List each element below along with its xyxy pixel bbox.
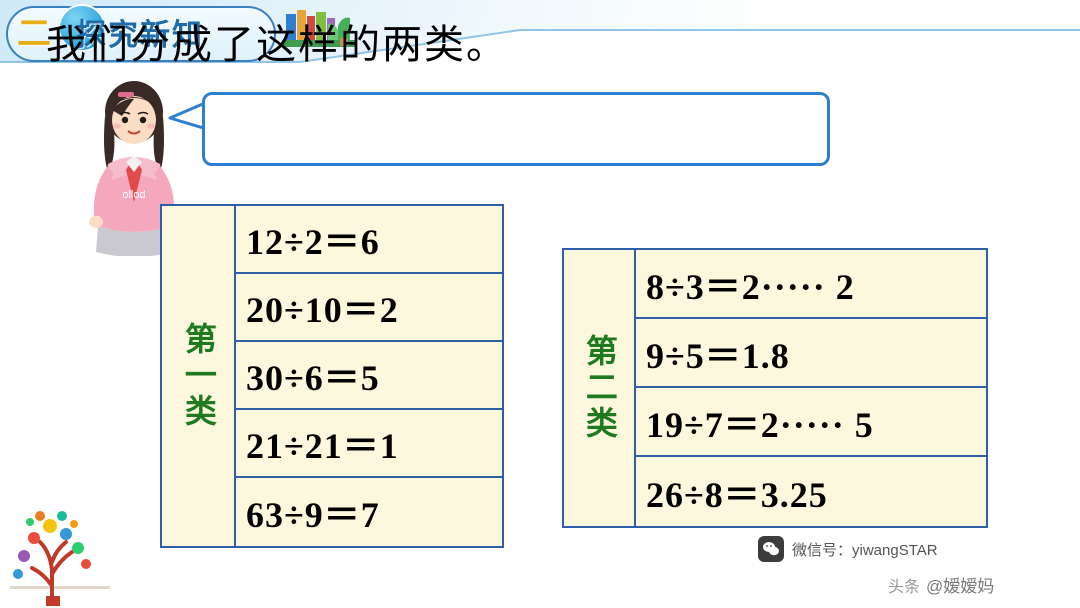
table-row: 19÷7＝2····· 5 [636,388,986,457]
equation-text: 30÷6＝5 [236,349,380,401]
equation-text: 21÷21＝1 [236,417,399,469]
wechat-icon [758,536,784,562]
table-row: 26÷8＝3.25 [636,457,986,526]
group-two-label-cell: 第二类 [562,248,636,528]
wechat-text: 微信号：yiwangSTAR [792,539,938,560]
toutiao-watermark: 头条 @嫒嫒妈 [888,572,994,597]
equation-text: 9÷5＝1.8 [636,327,790,379]
tree-icon [0,500,130,608]
equation-text: 12÷2＝6 [236,213,380,265]
table-row: 9÷5＝1.8 [636,319,986,388]
group-one-table: 第一类 12÷2＝6 20÷10＝2 30÷6＝5 21÷21＝1 63÷9＝7 [160,204,504,548]
table-row: 21÷21＝1 [236,410,502,478]
speech-bubble [202,92,830,166]
table-row: 30÷6＝5 [236,342,502,410]
group-one-label: 第一类 [179,322,217,430]
equation-text: 63÷9＝7 [236,486,380,538]
table-row: 12÷2＝6 [236,206,502,274]
table-row: 8÷3＝2····· 2 [636,250,986,319]
group-two-label: 第二类 [580,334,618,442]
group-two-rows: 8÷3＝2····· 2 9÷5＝1.8 19÷7＝2····· 5 26÷8＝… [636,248,988,528]
equation-text: 20÷10＝2 [236,281,399,333]
speech-text: 我们分成了这样的两类。 [46,12,508,70]
toutiao-label: 头条 [888,573,920,597]
toutiao-user: @嫒嫒妈 [926,572,994,597]
group-one-rows: 12÷2＝6 20÷10＝2 30÷6＝5 21÷21＝1 63÷9＝7 [236,204,504,548]
svg-text:ollod: ollod [122,189,145,201]
table-row: 63÷9＝7 [236,478,502,546]
equation-text: 26÷8＝3.25 [636,466,828,518]
equation-text: 19÷7＝2····· 5 [636,396,874,448]
equation-text: 8÷3＝2····· 2 [636,258,855,310]
group-two-table: 第二类 8÷3＝2····· 2 9÷5＝1.8 19÷7＝2····· 5 2… [562,248,988,528]
wechat-watermark: 微信号：yiwangSTAR [758,536,938,562]
group-one-label-cell: 第一类 [160,204,236,548]
table-row: 20÷10＝2 [236,274,502,342]
